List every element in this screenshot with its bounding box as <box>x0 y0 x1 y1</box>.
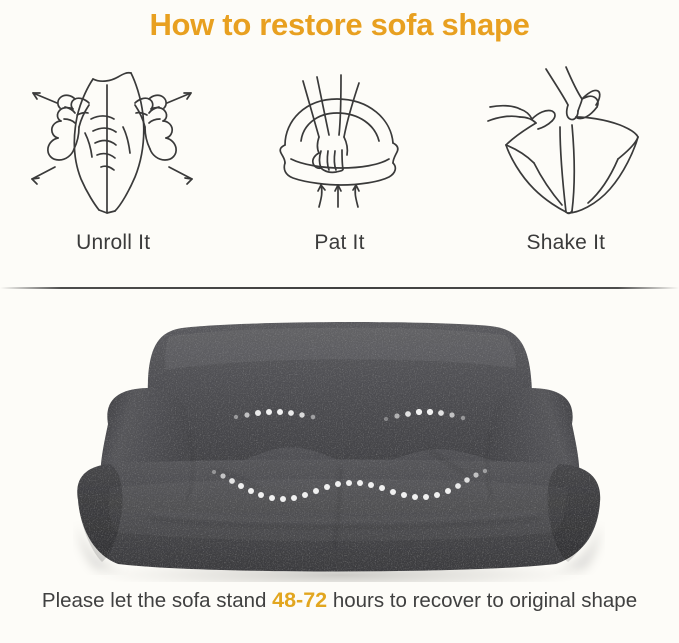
gray-sofa-photo <box>0 292 679 582</box>
unroll-fabric-illustration <box>15 55 211 215</box>
step-pat: Pat It <box>226 55 452 270</box>
note-text-line2: to original shape <box>487 589 637 612</box>
step-label-unroll: Unroll It <box>76 231 150 255</box>
sofa-illustration <box>0 292 679 582</box>
recovery-note: Please let the sofa stand 48-72 hours to… <box>0 588 679 613</box>
sofa-care-infographic: How to restore sofa shape <box>0 0 679 643</box>
page-title: How to restore sofa shape <box>0 2 679 48</box>
step-unroll: Unroll It <box>0 55 226 270</box>
note-highlight-duration: 48-72 <box>272 588 327 612</box>
note-text-after: hours to recover <box>327 589 481 612</box>
steps-row: Unroll It <box>0 55 679 270</box>
step-label-pat: Pat It <box>314 231 364 255</box>
pat-cushion-illustration <box>241 55 437 215</box>
shake-fabric-illustration <box>468 55 664 215</box>
step-shake: Shake It <box>453 55 679 270</box>
step-label-shake: Shake It <box>526 231 605 255</box>
section-divider <box>0 287 679 289</box>
note-text-before: Please let the sofa stand <box>42 589 272 612</box>
